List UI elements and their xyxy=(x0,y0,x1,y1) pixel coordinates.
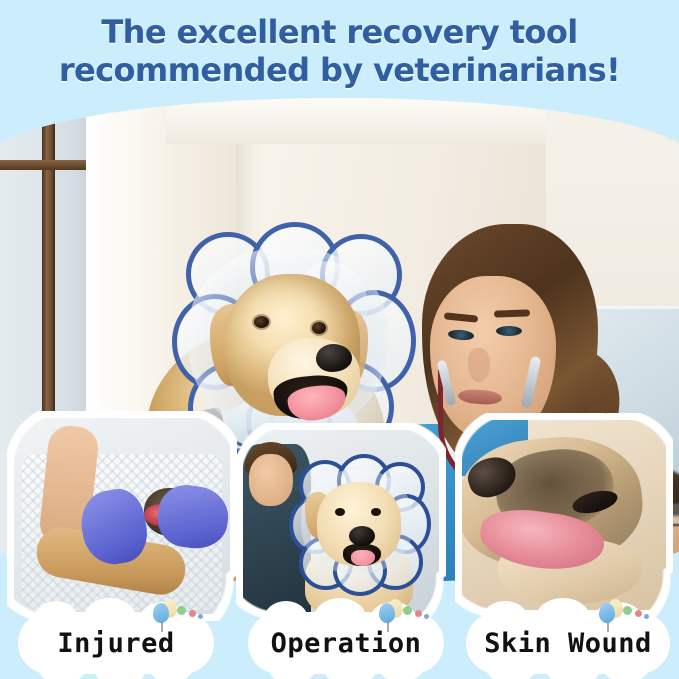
vet-eye-right xyxy=(496,326,522,336)
confetti-dot-red xyxy=(415,610,422,617)
balloon-icon xyxy=(153,603,169,623)
inset-clip xyxy=(462,420,666,610)
dog-eye-right xyxy=(312,322,326,334)
balloon-decoration xyxy=(378,598,430,628)
dog-eye-right xyxy=(371,508,381,516)
headline-line-2: recommended by veterinarians! xyxy=(0,52,679,90)
confetti-dot-blue xyxy=(424,614,429,619)
confetti-dot-red xyxy=(635,610,642,617)
confetti-dot-green xyxy=(623,606,632,615)
infographic-canvas: The excellent recovery tool recommended … xyxy=(0,0,679,679)
headline: The excellent recovery tool recommended … xyxy=(0,14,679,90)
vet-face xyxy=(249,454,293,506)
balloon-icon xyxy=(379,603,395,623)
balloon-string xyxy=(387,622,389,632)
confetti-dot-green xyxy=(403,606,412,615)
confetti-dot-green xyxy=(177,606,186,615)
confetti-dot-blue xyxy=(644,614,649,619)
balloon-decoration xyxy=(598,598,650,628)
headline-line-1: The excellent recovery tool xyxy=(0,14,679,52)
balloon-string xyxy=(161,622,163,632)
use-case-photo-operation xyxy=(243,430,439,612)
window-mullion-horizontal xyxy=(0,160,94,170)
confetti-dot-red xyxy=(189,610,196,617)
dog-eye-left xyxy=(254,316,269,328)
inset-clip xyxy=(243,430,439,612)
use-case-photo-injured xyxy=(14,418,230,614)
use-case-photo-skin-wound xyxy=(462,420,666,610)
balloon-decoration xyxy=(152,598,204,628)
inset-clip xyxy=(14,418,230,614)
dog-eye-left xyxy=(335,508,345,516)
clinic-ceiling xyxy=(166,98,586,144)
confetti-dot-blue xyxy=(198,614,203,619)
balloon-icon xyxy=(599,603,615,623)
dog-nose xyxy=(349,526,375,546)
balloon-string xyxy=(607,622,609,632)
vet-eyebrow-right xyxy=(494,309,530,317)
